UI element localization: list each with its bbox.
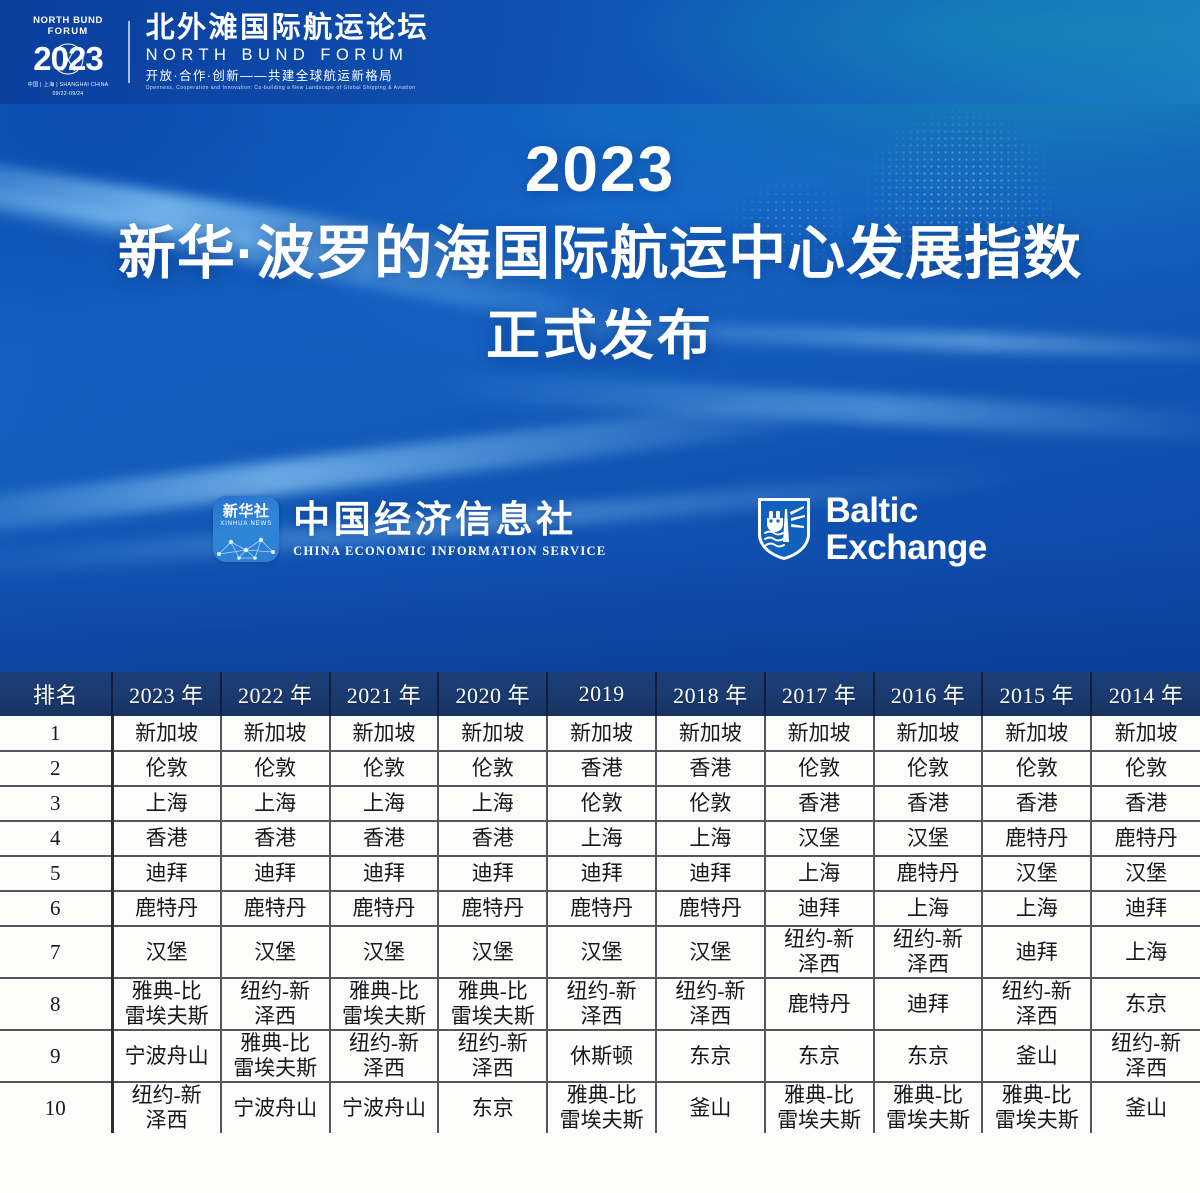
port-cell: 纽约-新 泽西 (330, 1030, 439, 1082)
port-cell: 上海 (874, 891, 983, 926)
port-cell: 香港 (1091, 786, 1200, 821)
port-cell: 鹿特丹 (1091, 821, 1200, 856)
xinhua-badge-en: XINHUA NEWS (213, 521, 279, 527)
port-cell: 上海 (1091, 926, 1200, 978)
page-title: 2023 新华·波罗的海国际航运中心发展指数 正式发布 (0, 132, 1200, 376)
port-cell: 汉堡 (1091, 856, 1200, 891)
port-cell: 纽约-新 泽西 (547, 978, 656, 1030)
table-row: 3上海上海上海上海伦敦伦敦香港香港香港香港 (0, 786, 1200, 821)
port-cell: 雅典-比 雷埃夫斯 (874, 1082, 983, 1133)
network-nodes-icon (213, 528, 279, 562)
port-cell: 迪拜 (1091, 891, 1200, 926)
rank-cell: 1 (0, 716, 112, 751)
port-cell: 上海 (330, 786, 439, 821)
port-cell: 伦敦 (656, 786, 765, 821)
port-cell: 迪拜 (547, 856, 656, 891)
column-header-year: 2014 年 (1091, 672, 1200, 716)
port-cell: 迪拜 (982, 926, 1091, 978)
table-row: 9宁波舟山雅典-比 雷埃夫斯纽约-新 泽西纽约-新 泽西休斯顿东京东京东京釜山纽… (0, 1030, 1200, 1082)
port-cell: 迪拜 (765, 891, 874, 926)
port-cell: 伦敦 (547, 786, 656, 821)
port-cell: 香港 (765, 786, 874, 821)
port-cell: 鹿特丹 (874, 856, 983, 891)
baltic-wordmark: Baltic Exchange (825, 492, 986, 566)
xinhua-badge-icon: 新华社 XINHUA NEWS (213, 496, 279, 562)
port-cell: 鹿特丹 (656, 891, 765, 926)
port-cell: 迪拜 (221, 856, 330, 891)
port-cell: 汉堡 (656, 926, 765, 978)
light-ray-decoration (430, 371, 1200, 444)
port-cell: 汉堡 (874, 821, 983, 856)
port-cell: 伦敦 (765, 751, 874, 786)
forum-title-block: 北外滩国际航运论坛 NORTH BUND FORUM 开放·合作·创新——共建全… (146, 12, 430, 92)
table-row: 4香港香港香港香港上海上海汉堡汉堡鹿特丹鹿特丹 (0, 821, 1200, 856)
table-header-row: 排名2023 年2022 年2021 年2020 年20192018 年2017… (0, 672, 1200, 716)
forum-slogan-cn: 开放·合作·创新——共建全球航运新格局 (146, 68, 430, 84)
port-cell: 香港 (982, 786, 1091, 821)
port-cell: 鹿特丹 (438, 891, 547, 926)
index-release-poster: NORTH BUND FORUM 2023 中国 | 上海 | SHANGHAI… (0, 0, 1200, 1193)
forum-title-cn: 北外滩国际航运论坛 (146, 12, 430, 45)
port-cell: 香港 (438, 821, 547, 856)
port-cell: 东京 (765, 1030, 874, 1082)
port-cell: 宁波舟山 (221, 1082, 330, 1133)
port-cell: 新加坡 (982, 716, 1091, 751)
sponsor-logos: 新华社 XINHUA NEWS (0, 492, 1200, 566)
port-cell: 釜山 (656, 1082, 765, 1133)
port-cell: 纽约-新 泽西 (656, 978, 765, 1030)
port-cell: 宁波舟山 (112, 1030, 221, 1082)
xinhua-badge-cn: 新华社 (213, 503, 279, 520)
port-cell: 香港 (112, 821, 221, 856)
port-cell: 伦敦 (221, 751, 330, 786)
column-header-rank: 排名 (0, 672, 112, 716)
port-cell: 釜山 (982, 1030, 1091, 1082)
port-cell: 雅典-比 雷埃夫斯 (112, 978, 221, 1030)
port-cell: 纽约-新 泽西 (221, 978, 330, 1030)
globe-icon (53, 44, 84, 75)
rank-cell: 3 (0, 786, 112, 821)
port-cell: 休斯顿 (547, 1030, 656, 1082)
port-cell: 新加坡 (1091, 716, 1200, 751)
port-cell: 汉堡 (765, 821, 874, 856)
port-cell: 鹿特丹 (547, 891, 656, 926)
port-cell: 伦敦 (1091, 751, 1200, 786)
port-cell: 新加坡 (656, 716, 765, 751)
column-header-year: 2020 年 (438, 672, 547, 716)
baltic-exchange-logo: Baltic Exchange (756, 492, 986, 566)
table-row: 6鹿特丹鹿特丹鹿特丹鹿特丹鹿特丹鹿特丹迪拜上海上海迪拜 (0, 891, 1200, 926)
baltic-wordmark-line1: Baltic (825, 492, 986, 529)
column-header-year: 2019 (547, 672, 656, 716)
table-row: 7汉堡汉堡汉堡汉堡汉堡汉堡纽约-新 泽西纽约-新 泽西迪拜上海 (0, 926, 1200, 978)
column-header-year: 2016 年 (874, 672, 983, 716)
port-cell: 雅典-比 雷埃夫斯 (221, 1030, 330, 1082)
rank-cell: 2 (0, 751, 112, 786)
port-cell: 纽约-新 泽西 (874, 926, 983, 978)
hero-banner: NORTH BUND FORUM 2023 中国 | 上海 | SHANGHAI… (0, 0, 1200, 672)
port-cell: 伦敦 (330, 751, 439, 786)
rank-cell: 9 (0, 1030, 112, 1082)
port-cell: 迪拜 (874, 978, 983, 1030)
port-cell: 雅典-比 雷埃夫斯 (547, 1082, 656, 1133)
port-cell: 伦敦 (438, 751, 547, 786)
rank-cell: 6 (0, 891, 112, 926)
port-cell: 纽约-新 泽西 (765, 926, 874, 978)
column-header-year: 2018 年 (656, 672, 765, 716)
port-cell: 新加坡 (330, 716, 439, 751)
column-header-year: 2015 年 (982, 672, 1091, 716)
forum-header-lockup: NORTH BUND FORUM 2023 中国 | 上海 | SHANGHAI… (0, 0, 1200, 104)
column-header-year: 2021 年 (330, 672, 439, 716)
column-header-year: 2017 年 (765, 672, 874, 716)
table-row: 10纽约-新 泽西宁波舟山宁波舟山东京雅典-比 雷埃夫斯釜山雅典-比 雷埃夫斯雅… (0, 1082, 1200, 1133)
table-row: 8雅典-比 雷埃夫斯纽约-新 泽西雅典-比 雷埃夫斯雅典-比 雷埃夫斯纽约-新 … (0, 978, 1200, 1030)
forum-slogan-en: Openness, Cooperation and Innovation: Co… (146, 84, 430, 92)
port-cell: 上海 (438, 786, 547, 821)
table-row: 5迪拜迪拜迪拜迪拜迪拜迪拜上海鹿特丹汉堡汉堡 (0, 856, 1200, 891)
port-cell: 汉堡 (112, 926, 221, 978)
baltic-wordmark-line2: Exchange (825, 529, 986, 566)
port-cell: 新加坡 (112, 716, 221, 751)
hero-title-line2: 正式发布 (0, 296, 1200, 376)
port-cell: 汉堡 (221, 926, 330, 978)
port-cell: 新加坡 (438, 716, 547, 751)
port-cell: 上海 (982, 891, 1091, 926)
port-cell: 纽约-新 泽西 (112, 1082, 221, 1133)
table-row: 1新加坡新加坡新加坡新加坡新加坡新加坡新加坡新加坡新加坡新加坡 (0, 716, 1200, 751)
logo-divider (128, 21, 130, 83)
port-cell: 新加坡 (765, 716, 874, 751)
forum-logo-arc-text: NORTH BUND FORUM (18, 15, 118, 37)
port-cell: 香港 (547, 751, 656, 786)
port-cell: 新加坡 (547, 716, 656, 751)
xinhua-name-en: CHINA ECONOMIC INFORMATION SERVICE (293, 543, 606, 559)
rank-cell: 4 (0, 821, 112, 856)
port-cell: 东京 (874, 1030, 983, 1082)
port-cell: 迪拜 (112, 856, 221, 891)
port-cell: 香港 (656, 751, 765, 786)
ranking-table: 排名2023 年2022 年2021 年2020 年20192018 年2017… (0, 672, 1200, 1133)
forum-title-en: NORTH BUND FORUM (146, 45, 430, 65)
port-cell: 鹿特丹 (112, 891, 221, 926)
hero-year: 2023 (0, 132, 1200, 206)
port-cell: 纽约-新 泽西 (438, 1030, 547, 1082)
xinhua-name-cn: 中国经济信息社 (293, 499, 606, 541)
forum-logo-year-block: 2023 (18, 38, 118, 80)
rank-cell: 8 (0, 978, 112, 1030)
forum-logo-arc-line2: FORUM (18, 26, 118, 37)
port-cell: 香港 (874, 786, 983, 821)
port-cell: 纽约-新 泽西 (982, 978, 1091, 1030)
xinhua-name-block: 中国经济信息社 CHINA ECONOMIC INFORMATION SERVI… (293, 499, 606, 559)
port-cell: 雅典-比 雷埃夫斯 (982, 1082, 1091, 1133)
table-body: 1新加坡新加坡新加坡新加坡新加坡新加坡新加坡新加坡新加坡新加坡2伦敦伦敦伦敦伦敦… (0, 716, 1200, 1133)
column-header-year: 2023 年 (112, 672, 221, 716)
forum-logo-location: 中国 | 上海 | SHANGHAI CHINA (18, 81, 118, 89)
table-row: 2伦敦伦敦伦敦伦敦香港香港伦敦伦敦伦敦伦敦 (0, 751, 1200, 786)
hero-title-line1: 新华·波罗的海国际航运中心发展指数 (0, 212, 1200, 296)
port-cell: 东京 (656, 1030, 765, 1082)
port-cell: 新加坡 (874, 716, 983, 751)
port-cell: 汉堡 (982, 856, 1091, 891)
north-bund-forum-logo-icon: NORTH BUND FORUM 2023 中国 | 上海 | SHANGHAI… (18, 11, 118, 93)
port-cell: 香港 (330, 821, 439, 856)
rank-cell: 5 (0, 856, 112, 891)
port-cell: 鹿特丹 (221, 891, 330, 926)
port-cell: 迪拜 (438, 856, 547, 891)
port-cell: 伦敦 (112, 751, 221, 786)
ranking-table-zone: 排名2023 年2022 年2021 年2020 年20192018 年2017… (0, 672, 1200, 1193)
port-cell: 迪拜 (330, 856, 439, 891)
port-cell: 上海 (112, 786, 221, 821)
port-cell: 宁波舟山 (330, 1082, 439, 1133)
port-cell: 雅典-比 雷埃夫斯 (765, 1082, 874, 1133)
xinhua-logo: 新华社 XINHUA NEWS (213, 496, 606, 562)
port-cell: 伦敦 (982, 751, 1091, 786)
port-cell: 鹿特丹 (982, 821, 1091, 856)
port-cell: 汉堡 (438, 926, 547, 978)
port-cell: 雅典-比 雷埃夫斯 (438, 978, 547, 1030)
port-cell: 迪拜 (656, 856, 765, 891)
port-cell: 鹿特丹 (330, 891, 439, 926)
rank-cell: 7 (0, 926, 112, 978)
port-cell: 新加坡 (221, 716, 330, 751)
port-cell: 东京 (438, 1082, 547, 1133)
rank-cell: 10 (0, 1082, 112, 1133)
port-cell: 釜山 (1091, 1082, 1200, 1133)
baltic-shield-icon (756, 496, 812, 562)
port-cell: 香港 (221, 821, 330, 856)
port-cell: 上海 (221, 786, 330, 821)
port-cell: 雅典-比 雷埃夫斯 (330, 978, 439, 1030)
port-cell: 上海 (765, 856, 874, 891)
port-cell: 鹿特丹 (765, 978, 874, 1030)
port-cell: 纽约-新 泽西 (1091, 1030, 1200, 1082)
column-header-year: 2022 年 (221, 672, 330, 716)
port-cell: 汉堡 (547, 926, 656, 978)
port-cell: 汉堡 (330, 926, 439, 978)
forum-logo-dates: 09/22-09/24 (18, 90, 118, 98)
port-cell: 上海 (547, 821, 656, 856)
port-cell: 伦敦 (874, 751, 983, 786)
port-cell: 东京 (1091, 978, 1200, 1030)
port-cell: 上海 (656, 821, 765, 856)
forum-logo-arc-line1: NORTH BUND (33, 15, 103, 26)
